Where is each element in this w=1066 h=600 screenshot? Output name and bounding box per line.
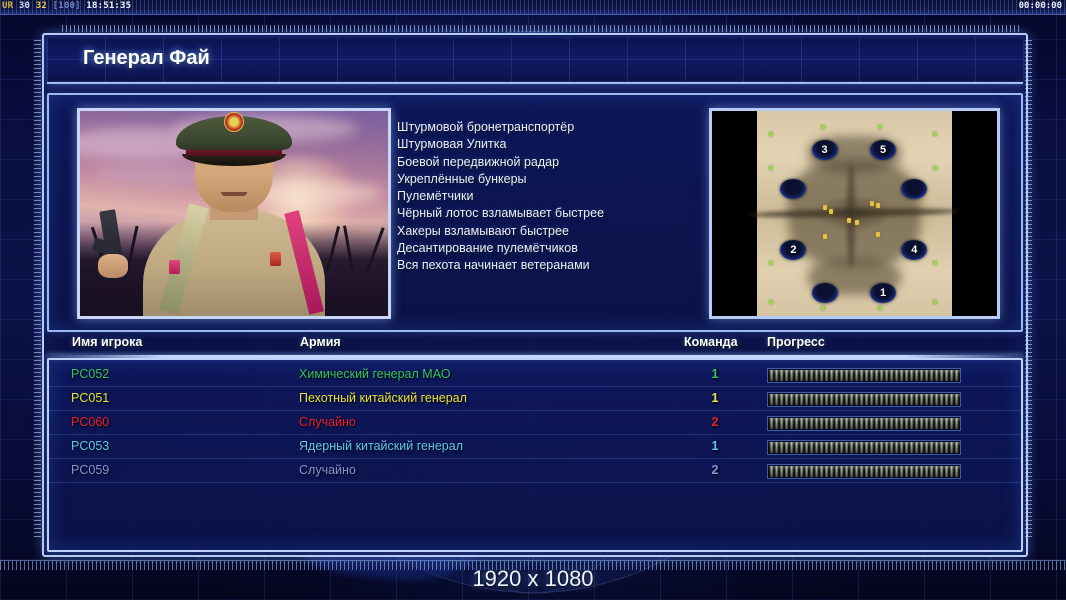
match-timer: 00:00:00 xyxy=(1019,1,1062,11)
game-setup-screen: UR 30 32 [100] 18:51:35 00:00:00 Генерал… xyxy=(0,0,1066,600)
debug-value-1: 30 xyxy=(19,1,30,11)
outer-frame xyxy=(34,25,1032,560)
debug-value-2: 32 xyxy=(36,1,47,11)
debug-bracket: [100] xyxy=(53,1,81,11)
debug-clock: 18:51:35 xyxy=(86,1,131,11)
frame-ruler-left xyxy=(34,37,41,537)
debug-stats-text: UR 30 32 [100] 18:51:35 xyxy=(2,1,131,11)
resolution-label: 1920 x 1080 xyxy=(0,566,1066,592)
debug-prefix: UR xyxy=(2,1,13,11)
top-ruler-ticks xyxy=(0,0,1066,14)
frame-ruler-top xyxy=(62,25,1022,32)
top-status-bar: UR 30 32 [100] 18:51:35 00:00:00 xyxy=(0,0,1066,15)
frame-ruler-right xyxy=(1025,37,1032,537)
